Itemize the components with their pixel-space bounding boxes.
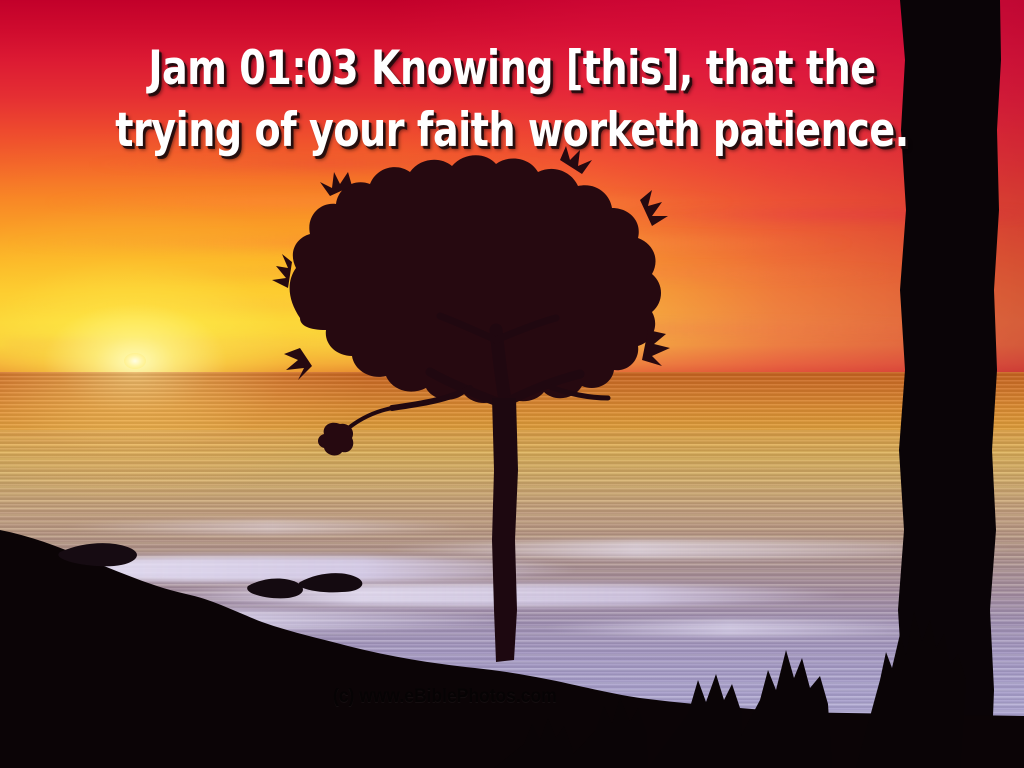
verse-overlay: Jam 01:03 Knowing [this], that the tryin… <box>0 38 1024 162</box>
copyright-watermark: (c) www.eBiblePhotos.com <box>333 687 557 707</box>
photo-canvas: Jam 01:03 Knowing [this], that the tryin… <box>0 0 1024 768</box>
ocean <box>0 372 1024 768</box>
setting-sun <box>124 353 146 369</box>
verse-line-1: Jam 01:03 Knowing [this], that the <box>66 38 959 100</box>
verse-line-2: trying of your faith worketh patience. <box>66 100 959 162</box>
